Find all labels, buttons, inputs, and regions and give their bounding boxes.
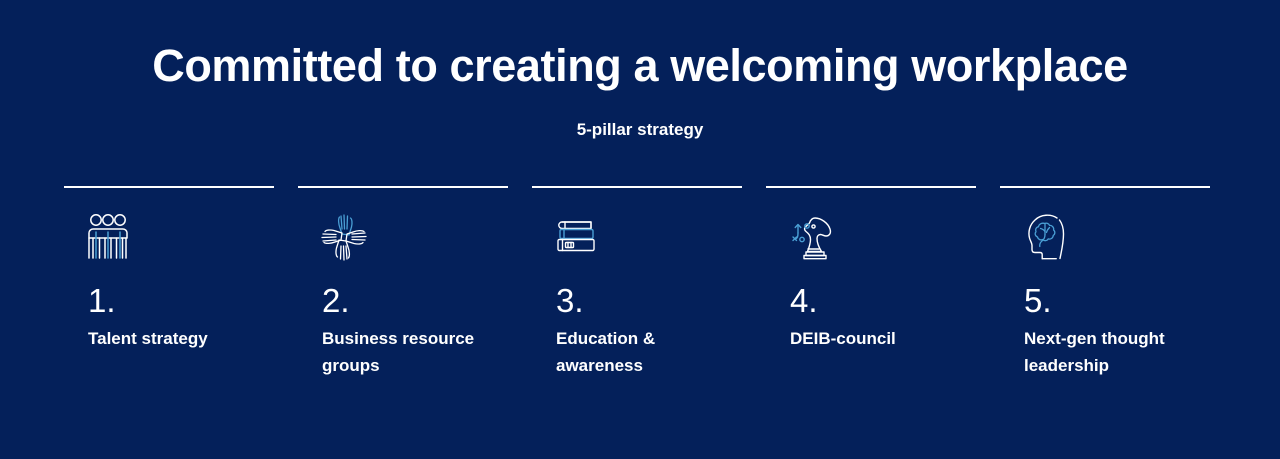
pillar-item-1: 1. Talent strategy [64, 186, 274, 353]
pillar-item-3: 3. Education & awareness [532, 186, 742, 380]
pillar-divider [532, 186, 742, 188]
page-subtitle: 5-pillar strategy [0, 120, 1280, 140]
pillar-number: 4. [790, 284, 976, 317]
stacked-books-icon [553, 210, 629, 266]
pillars-row: 1. Talent strategy [64, 186, 1216, 380]
pillar-number: 2. [322, 284, 508, 317]
interlocking-hands-icon [319, 210, 395, 266]
chess-knight-strategy-icon [787, 210, 863, 266]
pillar-label: DEIB-council [790, 326, 965, 353]
pillar-number: 3. [556, 284, 742, 317]
pillar-item-5: 5. Next-gen thought leadership [1000, 186, 1210, 380]
slide-root: Committed to creating a welcoming workpl… [0, 0, 1280, 459]
pillar-label: Education & awareness [556, 326, 731, 380]
pillar-divider [298, 186, 508, 188]
pillar-item-2: 2. Business resource groups [298, 186, 508, 380]
page-title: Committed to creating a welcoming workpl… [0, 40, 1280, 92]
pillar-divider [64, 186, 274, 188]
head-brain-icon [1021, 210, 1097, 266]
pillar-number: 5. [1024, 284, 1210, 317]
three-people-icon [85, 210, 161, 266]
pillar-label: Talent strategy [88, 326, 263, 353]
pillar-divider [1000, 186, 1210, 188]
pillar-label: Business resource groups [322, 326, 497, 380]
pillar-number: 1. [88, 284, 274, 317]
pillar-label: Next-gen thought leadership [1024, 326, 1199, 380]
pillar-divider [766, 186, 976, 188]
pillar-item-4: 4. DEIB-council [766, 186, 976, 353]
